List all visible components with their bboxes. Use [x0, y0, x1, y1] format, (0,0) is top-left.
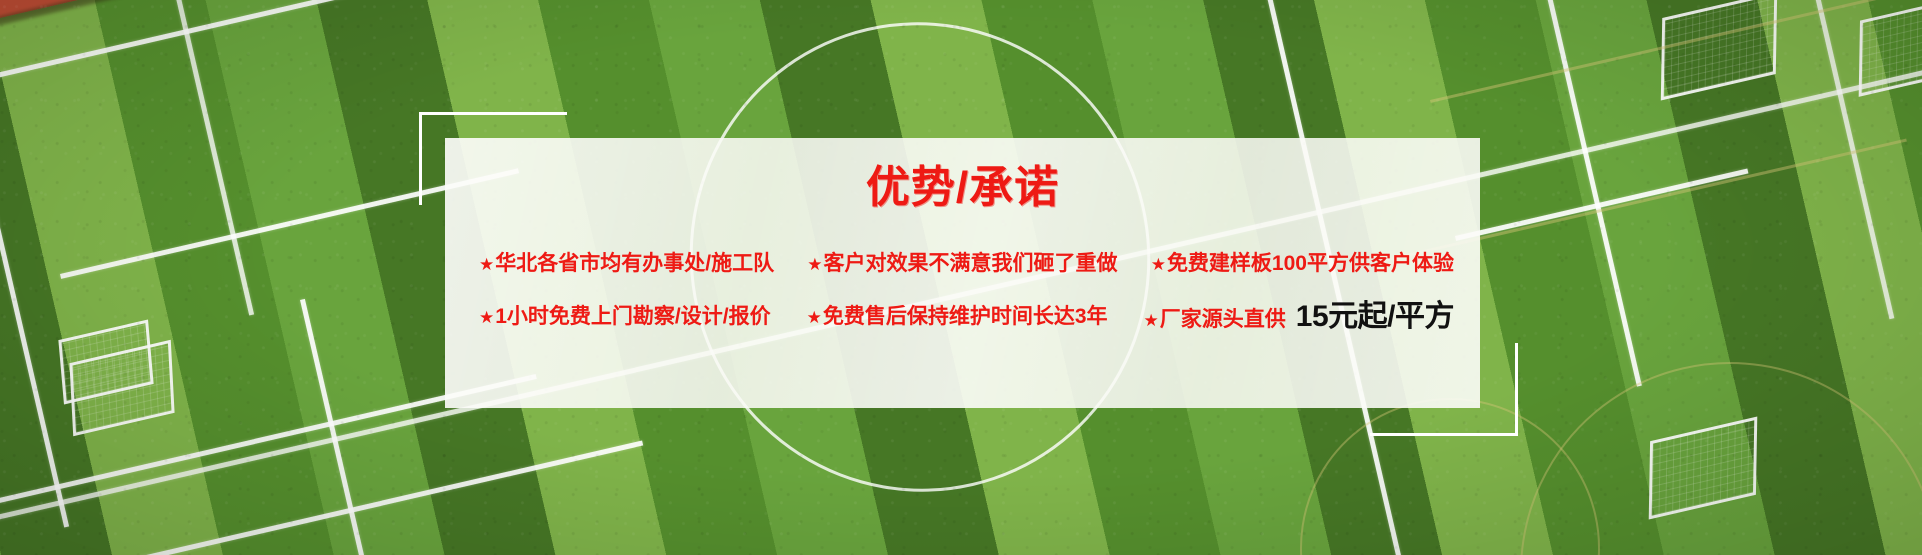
benefits-list: ★ 华北各省市均有办事处/施工队 ★ 客户对效果不满意我们砸了重做 ★ 免费建样…	[445, 252, 1480, 332]
page-title: 优势/承诺	[866, 166, 1059, 210]
benefit-text: 客户对效果不满意我们砸了重做	[824, 252, 1118, 276]
benefit-text: 1小时免费上门勘察/设计/报价	[495, 305, 770, 329]
benefit-text: 免费售后保持维护时间长达3年	[823, 305, 1108, 329]
benefit-item: ★ 客户对效果不满意我们砸了重做	[807, 252, 1117, 276]
promo-banner: 优势/承诺 ★ 华北各省市均有办事处/施工队 ★ 客户对效果不满意我们砸了重做 …	[0, 0, 1922, 555]
benefits-row: ★ 1小时免费上门勘察/设计/报价 ★ 免费售后保持维护时间长达3年 ★ 厂家源…	[479, 302, 1454, 332]
benefits-row: ★ 华北各省市均有办事处/施工队 ★ 客户对效果不满意我们砸了重做 ★ 免费建样…	[479, 252, 1454, 276]
price-highlight: 15元起/平方	[1296, 302, 1454, 332]
benefit-text: 免费建样板100平方供客户体验	[1167, 252, 1454, 276]
benefit-item: ★ 1小时免费上门勘察/设计/报价	[479, 305, 771, 329]
benefit-text: 华北各省市均有办事处/施工队	[495, 252, 774, 276]
star-icon: ★	[807, 255, 822, 275]
benefit-item: ★ 免费建样板100平方供客户体验	[1151, 252, 1454, 276]
benefit-item: ★ 华北各省市均有办事处/施工队	[479, 252, 774, 276]
star-icon: ★	[479, 308, 494, 328]
star-icon: ★	[1144, 311, 1159, 331]
benefit-item-price: ★ 厂家源头直供 15元起/平方	[1144, 302, 1454, 332]
benefit-item: ★ 免费售后保持维护时间长达3年	[807, 305, 1108, 329]
benefit-text: 厂家源头直供	[1160, 308, 1286, 332]
star-icon: ★	[479, 255, 494, 275]
content-panel: 优势/承诺 ★ 华北各省市均有办事处/施工队 ★ 客户对效果不满意我们砸了重做 …	[445, 138, 1480, 408]
star-icon: ★	[807, 308, 822, 328]
star-icon: ★	[1151, 255, 1166, 275]
